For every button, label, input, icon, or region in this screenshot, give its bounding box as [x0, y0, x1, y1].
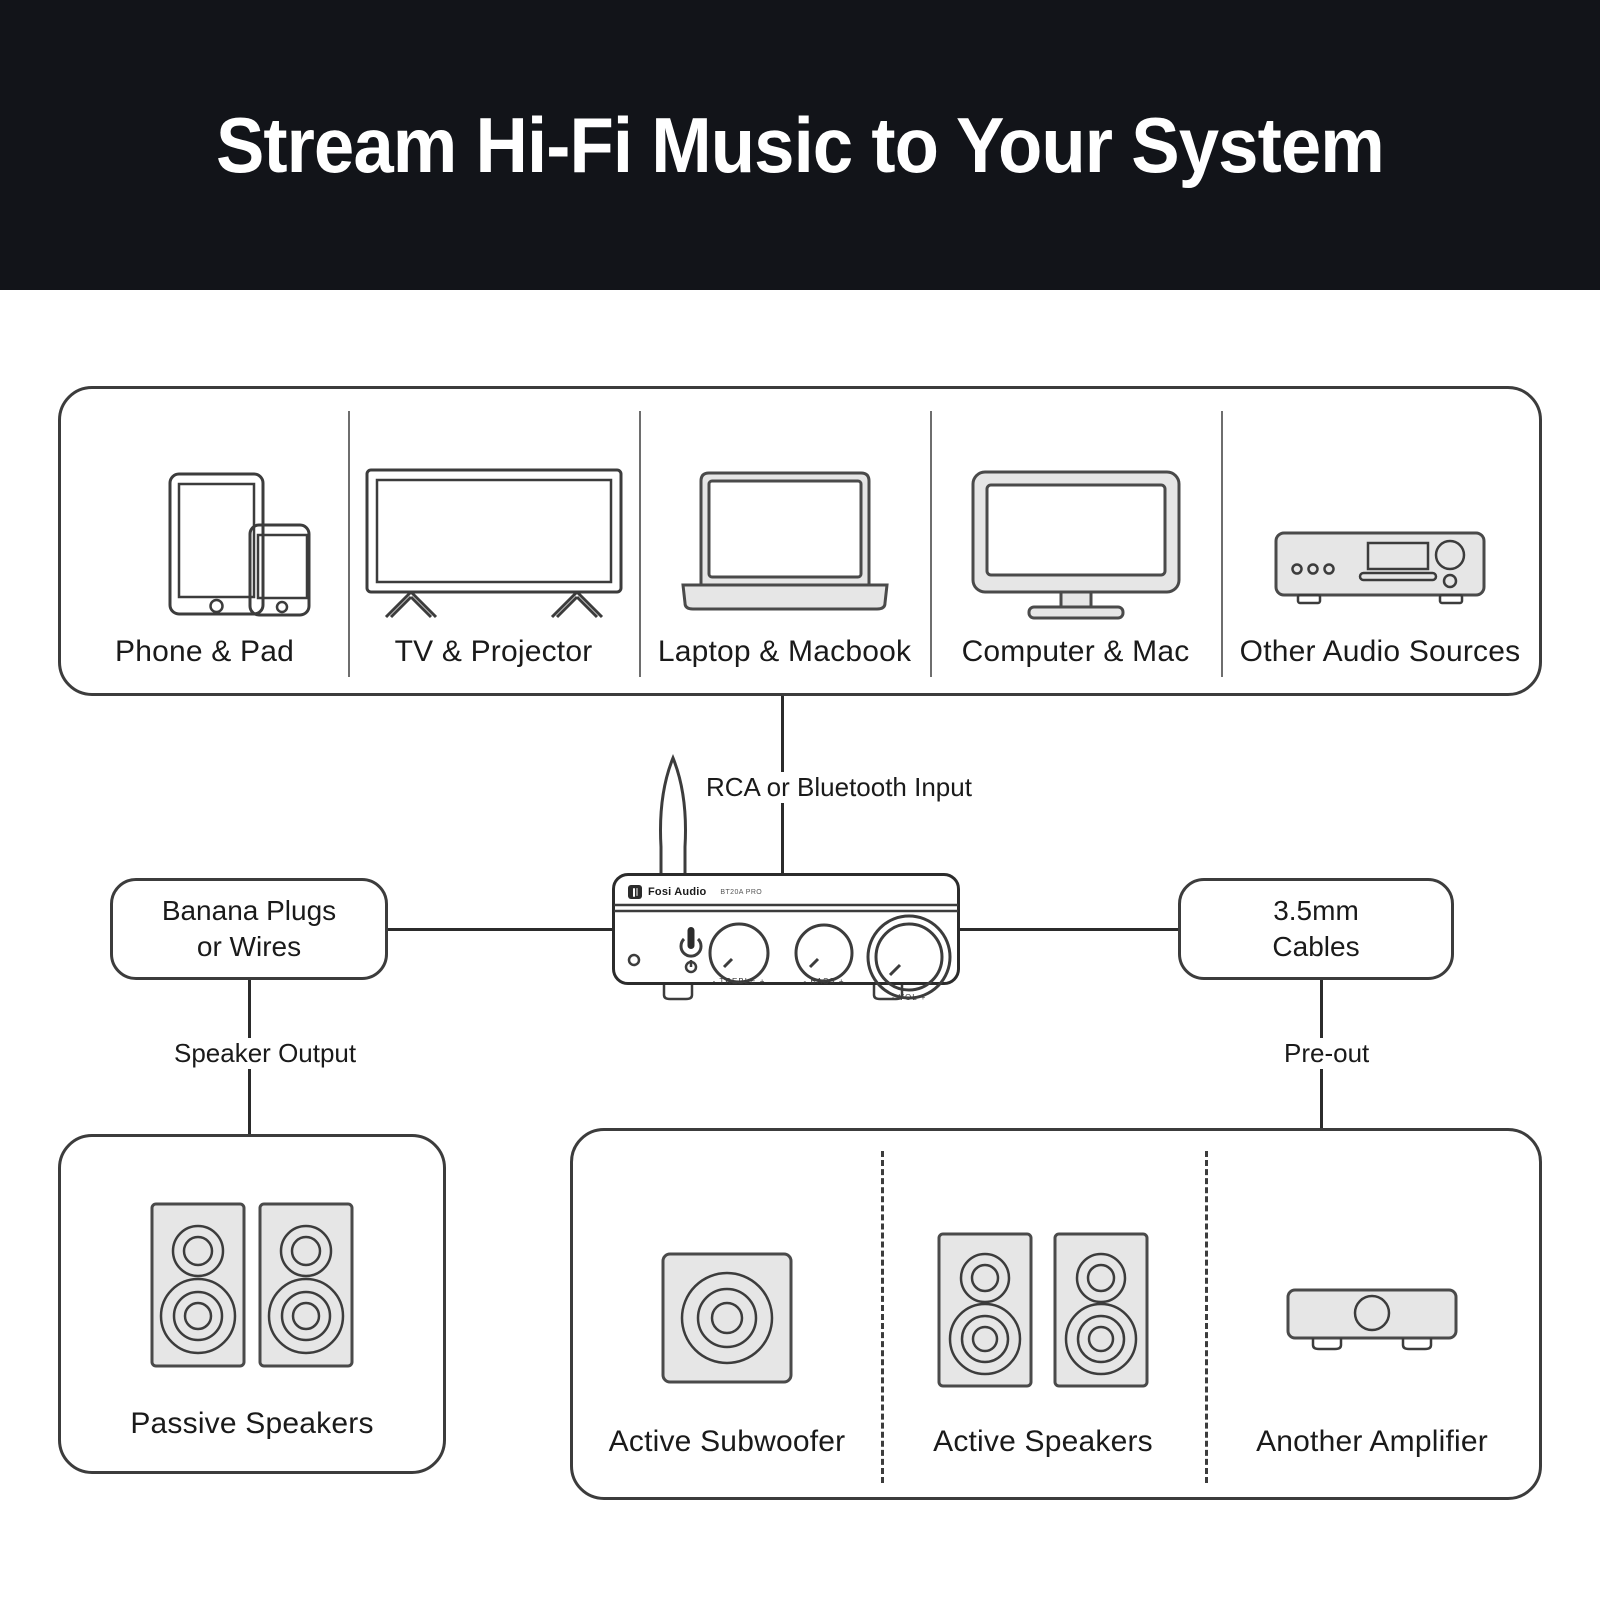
bluetooth-antenna [650, 755, 696, 883]
audio-sources-panel: Phone & Pad TV & Projector Laptop & Macb… [58, 386, 1542, 696]
fosi-logo-icon [628, 885, 642, 899]
output-item-active-subwoofer[interactable]: Active Subwoofer [573, 1187, 881, 1459]
laptop-icon [671, 467, 899, 619]
output-label: Passive Speakers [130, 1407, 373, 1441]
source-item-tv-projector[interactable]: TV & Projector [348, 419, 639, 669]
banana-plugs-line2: or Wires [162, 929, 336, 965]
passive-speakers-panel: Passive Speakers [58, 1134, 446, 1474]
desktop-monitor-icon [967, 467, 1185, 619]
source-item-laptop-macbook[interactable]: Laptop & Macbook [639, 419, 930, 669]
source-label: Computer & Mac [962, 635, 1190, 669]
source-label: Phone & Pad [115, 635, 294, 669]
amplifier-feet [612, 983, 960, 1003]
output-label: Active Speakers [933, 1425, 1153, 1459]
speaker-output-label: Speaker Output [166, 1038, 364, 1069]
television-icon [364, 467, 624, 619]
source-label: Laptop & Macbook [658, 635, 911, 669]
speaker-pair-icon [936, 1231, 1150, 1389]
source-item-phone-pad[interactable]: Phone & Pad [61, 419, 348, 669]
subwoofer-icon [660, 1251, 794, 1385]
output-label: Another Amplifier [1256, 1425, 1488, 1459]
cd-player-icon [1272, 529, 1488, 609]
output-item-active-speakers[interactable]: Active Speakers [881, 1187, 1205, 1459]
page-title: Stream Hi-Fi Music to Your System [216, 100, 1384, 191]
active-devices-panel: Active Subwoofer Active Speakers [570, 1128, 1542, 1500]
amplifier-device[interactable]: Fosi Audio BT20A PRO - TREBLE + - BASS +… [612, 755, 960, 1005]
source-label: TV & Projector [395, 635, 593, 669]
amplifier-box-icon [1285, 1287, 1459, 1351]
source-item-computer-mac[interactable]: Computer & Mac [930, 419, 1221, 669]
aux-cables-line1: 3.5mm [1272, 893, 1359, 929]
source-label: Other Audio Sources [1240, 635, 1521, 669]
banana-plugs-box[interactable]: Banana Plugs or Wires [110, 878, 388, 980]
output-item-passive-speakers[interactable]: Passive Speakers [61, 1173, 443, 1441]
source-item-other-audio-sources[interactable]: Other Audio Sources [1221, 419, 1539, 669]
aux-cables-box[interactable]: 3.5mm Cables [1178, 878, 1454, 980]
tablet-and-phone-icon [112, 467, 298, 617]
amplifier-controls[interactable] [612, 905, 960, 995]
speaker-pair-icon [149, 1201, 355, 1369]
connector-amp-to-aux [960, 928, 1178, 931]
pre-out-label: Pre-out [1276, 1038, 1377, 1069]
model-number: BT20A PRO [720, 889, 762, 896]
output-item-another-amplifier[interactable]: Another Amplifier [1205, 1187, 1539, 1459]
header-bar: Stream Hi-Fi Music to Your System [0, 0, 1600, 290]
amplifier-brand: Fosi Audio BT20A PRO [628, 885, 762, 899]
brand-name: Fosi Audio [648, 886, 706, 898]
banana-plugs-line1: Banana Plugs [162, 893, 336, 929]
output-label: Active Subwoofer [609, 1425, 846, 1459]
connector-amp-to-banana [388, 928, 612, 931]
aux-cables-line2: Cables [1272, 929, 1359, 965]
